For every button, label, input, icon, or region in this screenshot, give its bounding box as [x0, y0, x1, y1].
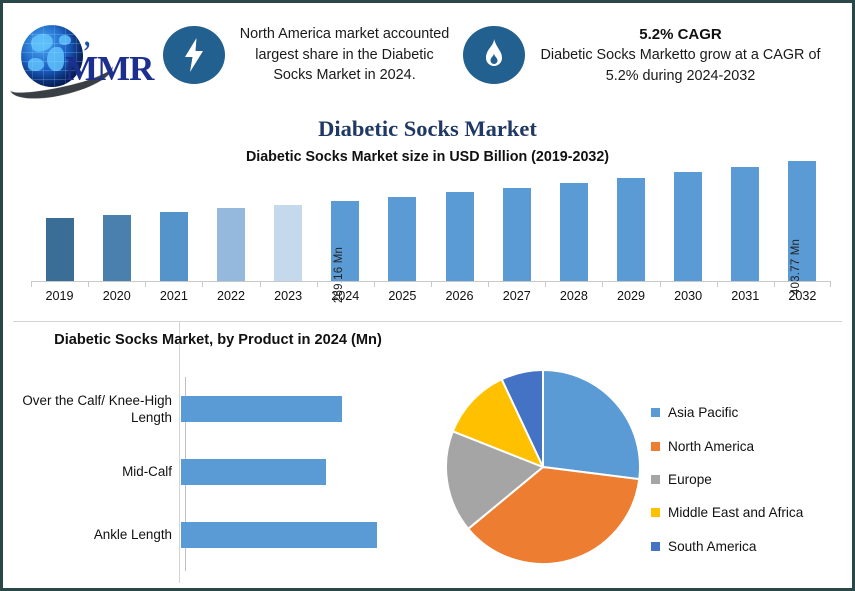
bar-2025 [388, 197, 416, 281]
bar-2028 [560, 183, 588, 281]
x-axis-label-2022: 2022 [202, 289, 259, 303]
legend-item-middle-east-and-africa[interactable]: Middle East and Africa [651, 496, 851, 529]
bar-2029 [617, 178, 645, 281]
bar-2019 [46, 218, 74, 281]
infographic-frame: ’ MMR North America market accounted lar… [0, 0, 855, 591]
bar-column-2032: 403.77 Mn [774, 153, 831, 281]
legend-swatch-icon [651, 408, 660, 417]
bar-column-2020 [88, 153, 145, 281]
legend-label: Middle East and Africa [668, 505, 803, 520]
x-axis-label-2032: 2032 [774, 289, 831, 303]
bar-column-2024: 269.16 Mn [317, 153, 374, 281]
bar-2021 [160, 212, 188, 281]
bar-chart-year-labels: 2019202020212022202320242025202620272028… [31, 289, 831, 309]
product-bar-row: Mid-Calf [3, 444, 423, 500]
product-bar-track [181, 507, 423, 563]
bar-2024: 269.16 Mn [331, 201, 359, 281]
header-stat-cagr: 5.2% CAGR Diabetic Socks Marketto grow a… [463, 9, 852, 101]
cagr-headline: 5.2% CAGR [536, 24, 825, 45]
bar-column-2022 [202, 153, 259, 281]
x-axis-label-2021: 2021 [145, 289, 202, 303]
x-tick [488, 282, 489, 287]
x-tick [260, 282, 261, 287]
legend-swatch-icon [651, 475, 660, 484]
header-stat-north-america: North America market accounted largest s… [163, 9, 463, 101]
product-bar-chart: Over the Calf/ Knee-High LengthMid-CalfA… [3, 381, 423, 571]
bar-column-2019 [31, 153, 88, 281]
legend-swatch-icon [651, 542, 660, 551]
bar-column-2028 [545, 153, 602, 281]
legend-item-south-america[interactable]: South America [651, 530, 851, 563]
product-bar-track [181, 381, 423, 437]
x-tick [602, 282, 603, 287]
legend-label: South America [668, 539, 756, 554]
x-axis-label-2030: 2030 [660, 289, 717, 303]
bar-column-2026 [431, 153, 488, 281]
bar-2027 [503, 188, 531, 281]
x-tick [545, 282, 546, 287]
page-title: Diabetic Socks Market [3, 116, 852, 142]
bar-chart-plot: 269.16 Mn403.77 Mn [31, 153, 831, 281]
bar-2023 [274, 205, 302, 281]
product-bar-label: Ankle Length [3, 526, 181, 543]
product-bar-label: Over the Calf/ Knee-High Length [3, 392, 181, 427]
legend-item-north-america[interactable]: North America [651, 429, 851, 462]
x-tick [830, 282, 831, 287]
header-stat-2-block: 5.2% CAGR Diabetic Socks Marketto grow a… [525, 24, 825, 86]
bar-chart-x-axis [31, 281, 831, 287]
bar-2020 [103, 215, 131, 281]
legend-label: Asia Pacific [668, 405, 738, 420]
legend-swatch-icon [651, 442, 660, 451]
pie-svg [445, 369, 641, 565]
product-chart-title: Diabetic Socks Market, by Product in 202… [23, 331, 413, 350]
x-tick [88, 282, 89, 287]
product-bar [181, 522, 377, 548]
product-bar-track [181, 444, 423, 500]
horizontal-divider [13, 321, 842, 322]
pie-slice-asia-pacific [543, 370, 640, 479]
bar-2026 [446, 192, 474, 281]
bar-2032: 403.77 Mn [788, 161, 816, 281]
bar-column-2023 [260, 153, 317, 281]
x-tick [717, 282, 718, 287]
legend-label: North America [668, 439, 754, 454]
x-tick [774, 282, 775, 287]
x-axis-label-2028: 2028 [545, 289, 602, 303]
x-tick [31, 282, 32, 287]
x-axis-label-2026: 2026 [431, 289, 488, 303]
market-size-bar-chart: 269.16 Mn403.77 Mn 201920202021202220232… [31, 153, 831, 308]
x-axis-label-2020: 2020 [88, 289, 145, 303]
lightning-bolt-icon [163, 26, 225, 84]
legend-label: Europe [668, 472, 712, 487]
x-axis-label-2019: 2019 [31, 289, 88, 303]
legend-swatch-icon [651, 508, 660, 517]
x-axis-label-2029: 2029 [602, 289, 659, 303]
mmr-logo: ’ MMR [3, 9, 163, 101]
product-bar [181, 396, 342, 422]
header-bar: ’ MMR North America market accounted lar… [3, 3, 852, 107]
x-tick [374, 282, 375, 287]
x-tick [317, 282, 318, 287]
x-tick [660, 282, 661, 287]
product-bar [181, 459, 326, 485]
bar-column-2027 [488, 153, 545, 281]
region-legend: Asia PacificNorth AmericaEuropeMiddle Ea… [651, 396, 851, 563]
legend-item-asia-pacific[interactable]: Asia Pacific [651, 396, 851, 429]
x-tick [431, 282, 432, 287]
flame-icon [463, 26, 525, 84]
bar-2031 [731, 167, 759, 281]
bar-column-2031 [717, 153, 774, 281]
bar-column-2030 [660, 153, 717, 281]
x-axis-label-2025: 2025 [374, 289, 431, 303]
legend-item-europe[interactable]: Europe [651, 463, 851, 496]
bar-2022 [217, 208, 245, 281]
bar-column-2025 [374, 153, 431, 281]
header-stat-1-text: North America market accounted largest s… [225, 24, 453, 85]
product-bar-row: Ankle Length [3, 507, 423, 563]
bar-2030 [674, 172, 702, 281]
product-bar-label: Mid-Calf [3, 463, 181, 480]
x-axis-label-2024: 2024 [317, 289, 374, 303]
region-pie-chart [445, 369, 641, 565]
x-axis-label-2023: 2023 [260, 289, 317, 303]
bar-column-2021 [145, 153, 202, 281]
bar-column-2029 [602, 153, 659, 281]
product-bar-row: Over the Calf/ Knee-High Length [3, 381, 423, 437]
x-axis-label-2031: 2031 [717, 289, 774, 303]
x-tick [202, 282, 203, 287]
x-tick [145, 282, 146, 287]
header-stat-2-text: Diabetic Socks Marketto grow at a CAGR o… [541, 47, 821, 83]
x-axis-label-2027: 2027 [488, 289, 545, 303]
logo-text: MMR [65, 49, 153, 89]
